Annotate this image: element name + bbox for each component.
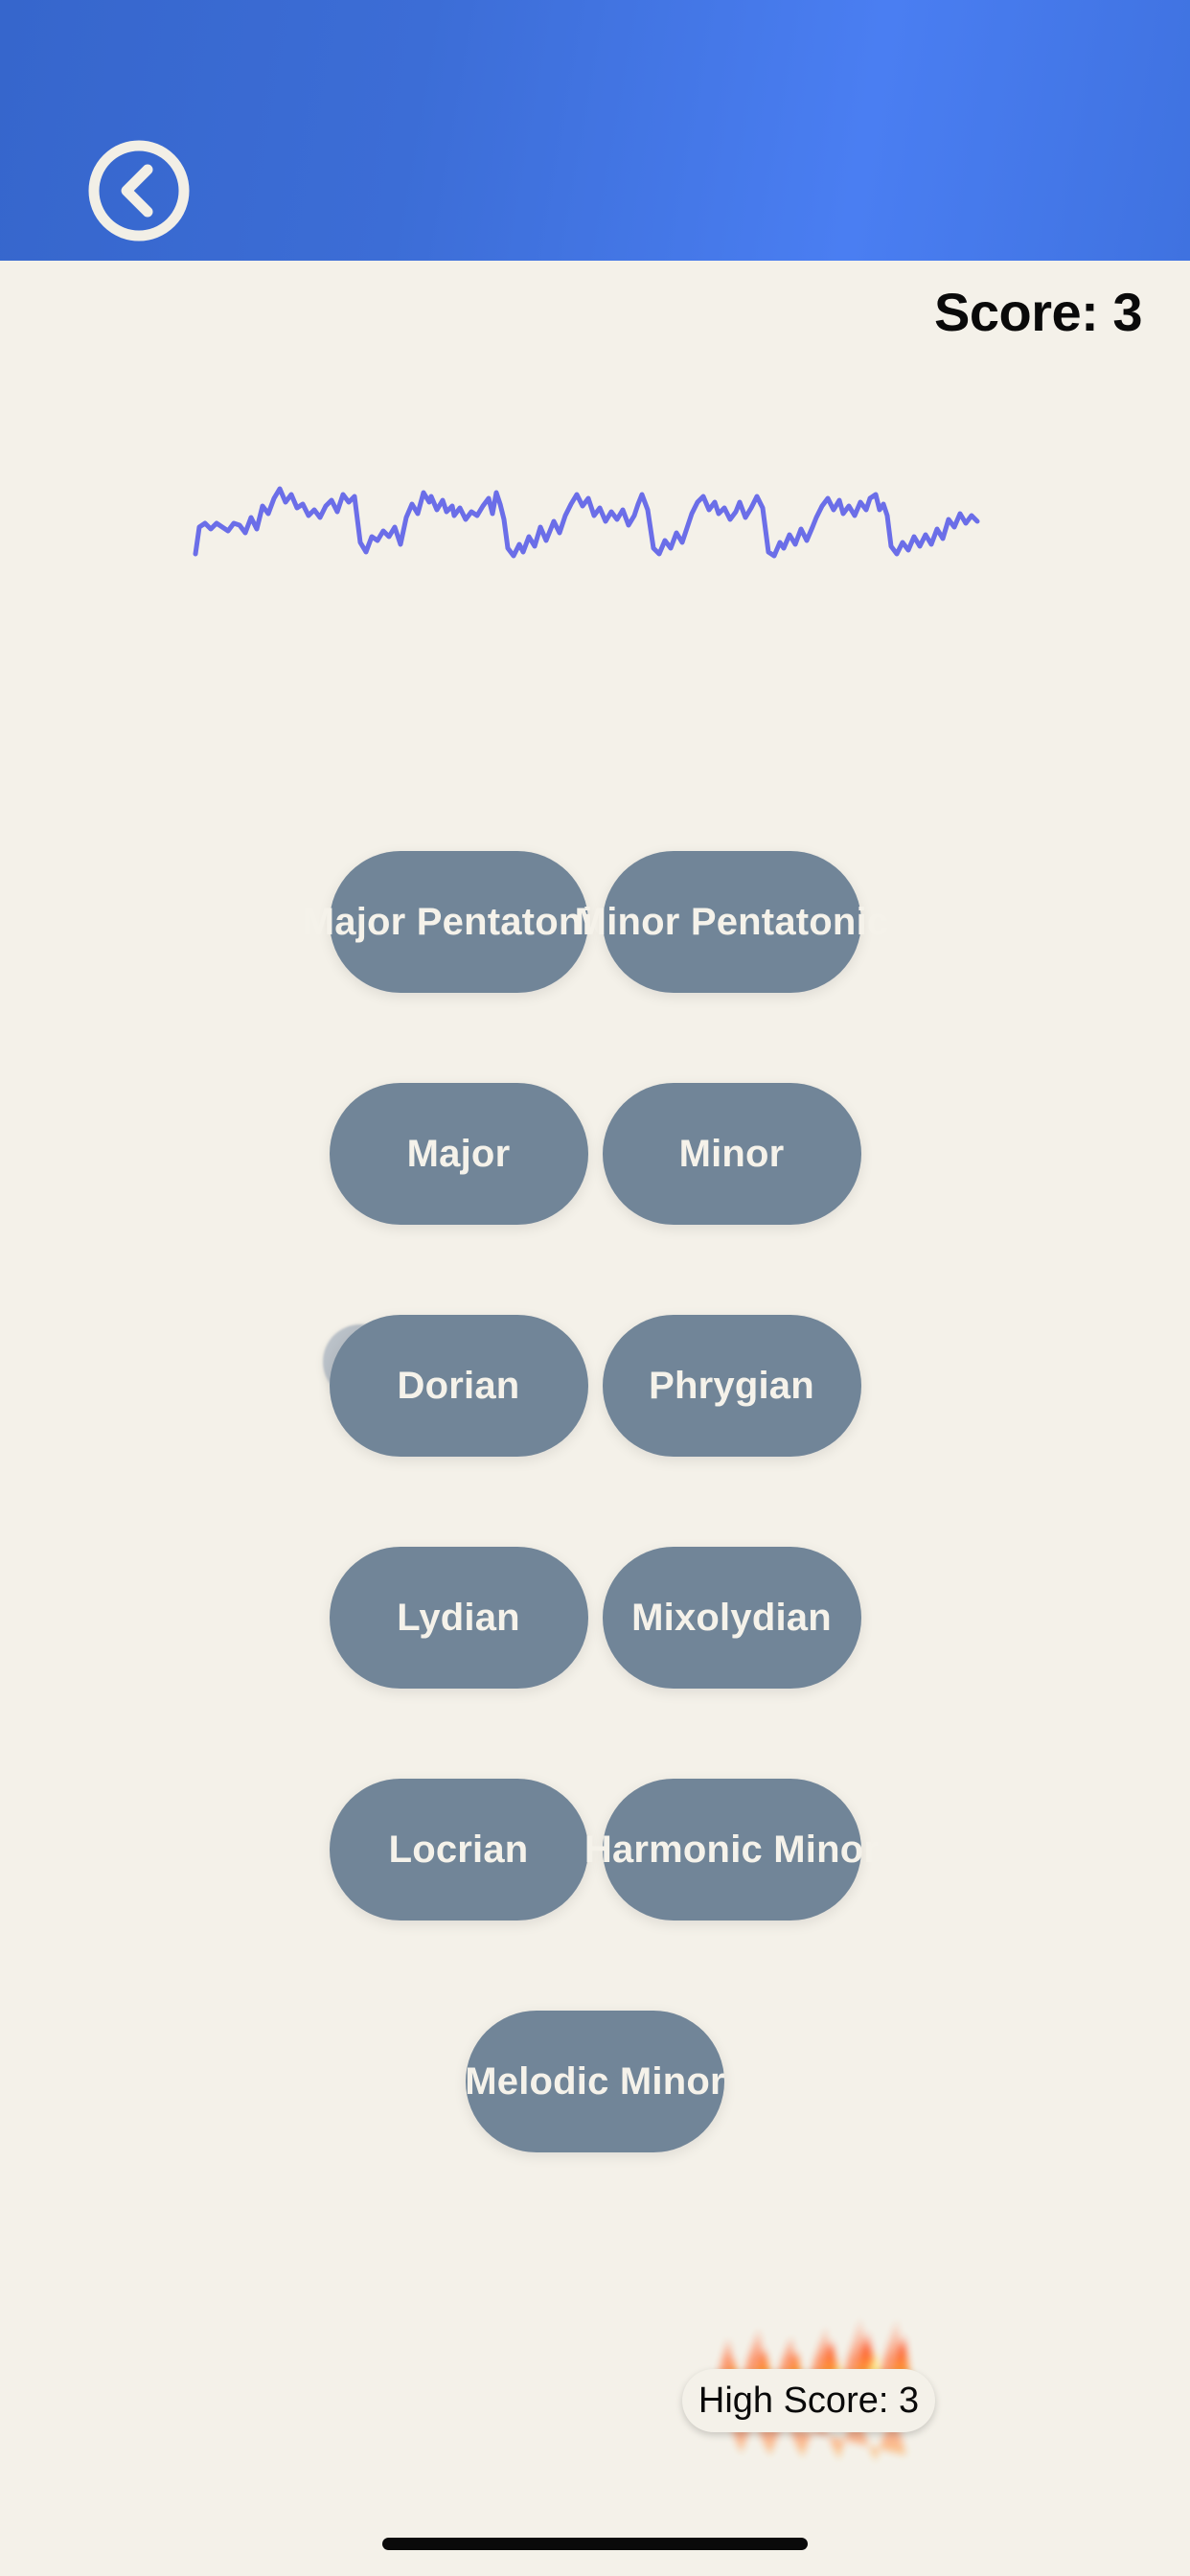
option-row: Major PentatonicMinor Pentatonic — [0, 851, 1190, 993]
option-row: DorianPhrygian — [0, 1315, 1190, 1457]
flame-effect-icon — [703, 2267, 924, 2469]
option-button[interactable]: Locrian — [330, 1779, 588, 1920]
app-root: Score: 3 Next Major PentatonicMinor Pent… — [0, 0, 1190, 2576]
high-score-badge: High Score: 3 — [682, 2267, 941, 2488]
option-row: LocrianHarmonic Minor — [0, 1779, 1190, 1920]
option-button[interactable]: Harmonic Minor — [603, 1779, 861, 1920]
option-button[interactable]: Lydian — [330, 1547, 588, 1689]
option-row: LydianMixolydian — [0, 1547, 1190, 1689]
transport-controls: Next — [0, 661, 1190, 805]
audio-waveform-icon — [192, 460, 996, 565]
option-button[interactable]: Mixolydian — [603, 1547, 861, 1689]
option-button[interactable]: Minor — [603, 1083, 861, 1225]
scale-options-grid: Major PentatonicMinor PentatonicMajorMin… — [0, 851, 1190, 2242]
option-button[interactable]: Dorian — [330, 1315, 588, 1457]
option-button[interactable]: Melodic Minor — [466, 2011, 724, 2152]
app-header — [0, 0, 1190, 261]
option-row: Melodic Minor — [0, 2011, 1190, 2152]
waveform-display — [192, 460, 996, 565]
option-row: MajorMinor — [0, 1083, 1190, 1225]
high-score-label: High Score: 3 — [682, 2369, 935, 2432]
option-button[interactable]: Phrygian — [603, 1315, 861, 1457]
home-indicator-bar[interactable] — [382, 2538, 808, 2550]
chevron-left-circle-icon — [84, 136, 194, 245]
option-button[interactable]: Major Pentatonic — [330, 851, 588, 993]
back-button[interactable] — [84, 136, 194, 245]
score-label: Score: 3 — [934, 286, 1142, 339]
option-button[interactable]: Minor Pentatonic — [603, 851, 861, 993]
option-button[interactable]: Major — [330, 1083, 588, 1225]
